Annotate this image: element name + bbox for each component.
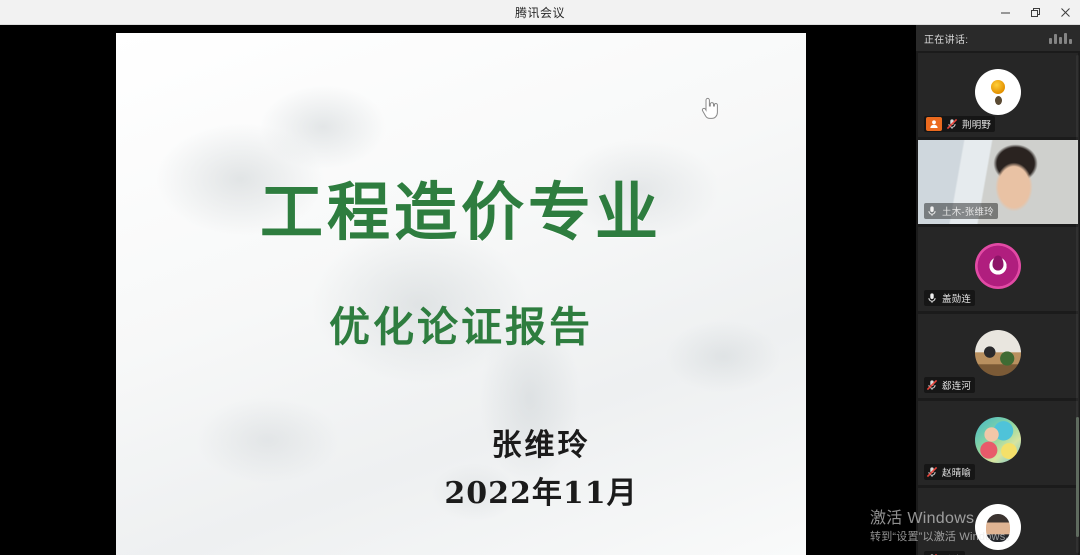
- participant-label: 郄连河: [924, 377, 975, 393]
- host-badge-icon: [926, 117, 942, 131]
- pointing-hand-cursor: [698, 95, 720, 121]
- avatar: [975, 504, 1021, 550]
- slide-author: 张维玲: [116, 431, 806, 461]
- participant-name: 郄连河: [942, 378, 971, 392]
- participant-tile[interactable]: 土木-张维玲: [918, 140, 1078, 224]
- participant-label: 赵晴喻: [924, 464, 975, 480]
- window-title: 腾讯会议: [515, 4, 565, 21]
- sound-wave-icon: [1049, 32, 1072, 44]
- slide-date: 2022年11月: [116, 479, 806, 509]
- slide-subtitle: 优化论证报告: [116, 307, 806, 348]
- title-bar: 腾讯会议: [0, 0, 1080, 25]
- restore-button[interactable]: [1020, 0, 1050, 25]
- minimize-button[interactable]: [990, 0, 1020, 25]
- avatar: [975, 417, 1021, 463]
- presentation-slide: 工程造价专业 优化论证报告 张维玲 2022年11月: [116, 33, 806, 555]
- window-controls: [990, 0, 1080, 25]
- mic-icon: [926, 292, 938, 305]
- participant-name: 土木-张维玲: [942, 204, 994, 218]
- tencent-meeting-window: 腾讯会议: [0, 0, 1080, 555]
- participant-tile[interactable]: 郄连河: [918, 314, 1078, 398]
- avatar: [975, 330, 1021, 376]
- mic-muted-icon: [946, 118, 958, 131]
- participant-tile[interactable]: 荆明野: [918, 53, 1078, 137]
- slide-title: 工程造价专业: [116, 181, 806, 244]
- participant-tile[interactable]: 爱涛: [918, 488, 1078, 555]
- participant-name: 赵晴喻: [942, 465, 971, 479]
- participant-tile[interactable]: 盖勋连: [918, 227, 1078, 311]
- speaking-status-bar: 正在讲话:: [916, 25, 1080, 51]
- speaking-status-label: 正在讲话:: [924, 31, 968, 46]
- tile-media: [918, 488, 1078, 555]
- participant-name: 盖勋连: [942, 291, 971, 305]
- participant-label: 盖勋连: [924, 290, 975, 306]
- participant-label: 土木-张维玲: [924, 203, 998, 219]
- sidebar-scrollbar-thumb[interactable]: [1076, 417, 1079, 537]
- participant-tile-list[interactable]: 荆明野 土木-张维玲: [916, 51, 1080, 555]
- close-button[interactable]: [1050, 0, 1080, 25]
- mic-muted-icon: [926, 379, 938, 392]
- mic-icon: [926, 205, 938, 218]
- participant-name: 荆明野: [962, 117, 991, 131]
- participant-sidebar: 正在讲话:: [916, 25, 1080, 555]
- participant-label: 荆明野: [924, 116, 995, 132]
- avatar: [975, 69, 1021, 115]
- mic-muted-icon: [926, 466, 938, 479]
- shared-screen-stage[interactable]: 工程造价专业 优化论证报告 张维玲 2022年11月: [0, 25, 916, 555]
- participant-tile[interactable]: 赵晴喻: [918, 401, 1078, 485]
- avatar: [975, 243, 1021, 289]
- participant-label: 爱涛: [924, 551, 965, 555]
